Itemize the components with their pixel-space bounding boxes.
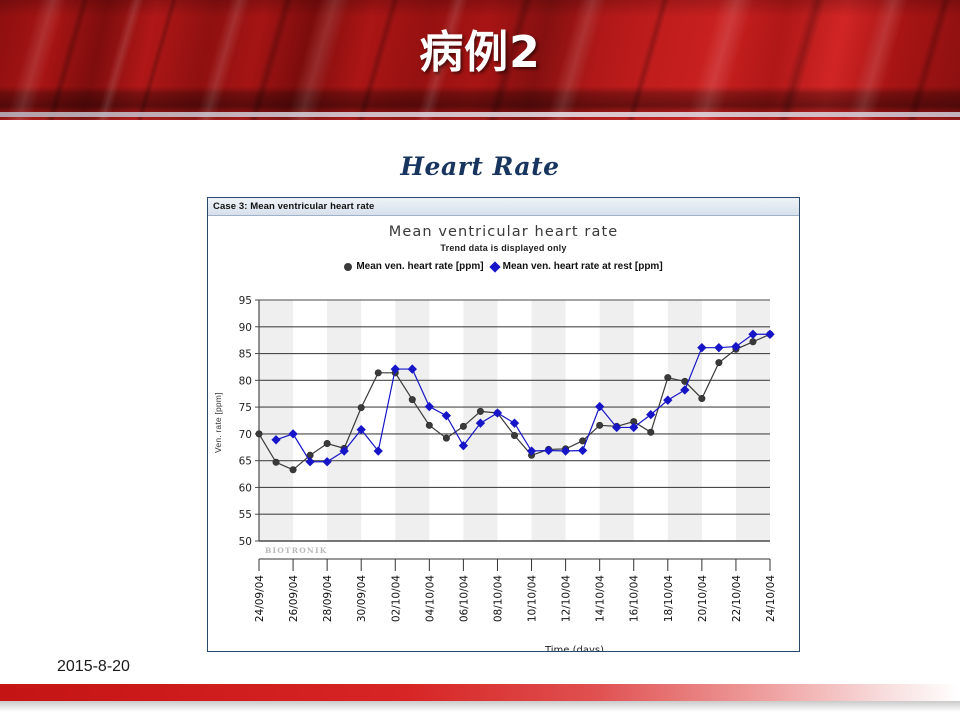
svg-text:06/10/04: 06/10/04 bbox=[458, 575, 470, 622]
chart-title: Mean ventricular heart rate bbox=[208, 224, 799, 240]
svg-text:04/10/04: 04/10/04 bbox=[424, 575, 436, 622]
footer-bar bbox=[0, 684, 960, 701]
svg-text:85: 85 bbox=[239, 349, 252, 361]
footer-bar-shadow bbox=[0, 701, 960, 712]
y-axis-label: Ven. rate [ppm] bbox=[213, 392, 223, 453]
chart-subtitle: Trend data is displayed only bbox=[208, 243, 799, 253]
svg-text:70: 70 bbox=[239, 429, 252, 441]
svg-text:20/10/04: 20/10/04 bbox=[697, 575, 709, 622]
chart-heading: Heart Rate bbox=[0, 152, 960, 181]
svg-text:60: 60 bbox=[239, 482, 252, 494]
header-underline bbox=[0, 112, 960, 117]
legend-label-2: Mean ven. heart rate at rest [ppm] bbox=[503, 261, 663, 272]
svg-text:65: 65 bbox=[239, 456, 252, 468]
diamond-marker-icon bbox=[489, 261, 500, 272]
svg-text:14/10/04: 14/10/04 bbox=[595, 575, 607, 622]
slide-header-banner: 病例2 bbox=[0, 0, 960, 120]
svg-text:BIOTRONIK: BIOTRONIK bbox=[265, 546, 327, 555]
svg-text:12/10/04: 12/10/04 bbox=[561, 575, 573, 622]
legend-entry-mean-rate-rest: Mean ven. heart rate at rest [ppm] bbox=[491, 261, 663, 272]
legend-label-1: Mean ven. heart rate [ppm] bbox=[356, 261, 483, 272]
svg-text:02/10/04: 02/10/04 bbox=[390, 575, 402, 622]
report-titlebar-label: Case 3: Mean ventricular heart rate bbox=[208, 201, 374, 212]
svg-text:30/09/04: 30/09/04 bbox=[356, 575, 368, 622]
report-titlebar: Case 3: Mean ventricular heart rate bbox=[208, 198, 799, 216]
svg-text:80: 80 bbox=[239, 375, 252, 387]
svg-text:24/10/04: 24/10/04 bbox=[765, 575, 777, 622]
chart-legend: Mean ven. heart rate [ppm] Mean ven. hea… bbox=[208, 261, 799, 272]
svg-text:75: 75 bbox=[239, 402, 252, 414]
svg-text:10/10/04: 10/10/04 bbox=[527, 575, 539, 622]
svg-text:16/10/04: 16/10/04 bbox=[629, 575, 641, 622]
svg-text:Time (days): Time (days) bbox=[544, 645, 604, 651]
plot-area: Ven. rate [ppm] 50556065707580859095BIOT… bbox=[208, 291, 801, 651]
line-chart: 50556065707580859095BIOTRONIK24/09/0426/… bbox=[208, 291, 801, 651]
svg-text:28/09/04: 28/09/04 bbox=[322, 575, 334, 622]
chart-title-block: Mean ventricular heart rate Trend data i… bbox=[208, 216, 799, 272]
svg-text:55: 55 bbox=[239, 509, 252, 521]
footer-date: 2015-8-20 bbox=[57, 658, 130, 676]
svg-text:90: 90 bbox=[239, 322, 252, 334]
svg-text:18/10/04: 18/10/04 bbox=[663, 575, 675, 622]
svg-text:22/10/04: 22/10/04 bbox=[731, 575, 743, 622]
page-title: 病例2 bbox=[0, 0, 960, 96]
legend-entry-mean-rate: Mean ven. heart rate [ppm] bbox=[344, 261, 483, 272]
report-window: Case 3: Mean ventricular heart rate Mean… bbox=[207, 197, 800, 652]
svg-text:08/10/04: 08/10/04 bbox=[492, 575, 504, 622]
svg-text:50: 50 bbox=[239, 536, 252, 548]
svg-text:26/09/04: 26/09/04 bbox=[288, 575, 300, 622]
circle-marker-icon bbox=[344, 263, 352, 271]
svg-text:24/09/04: 24/09/04 bbox=[254, 575, 266, 622]
svg-text:95: 95 bbox=[239, 295, 252, 307]
